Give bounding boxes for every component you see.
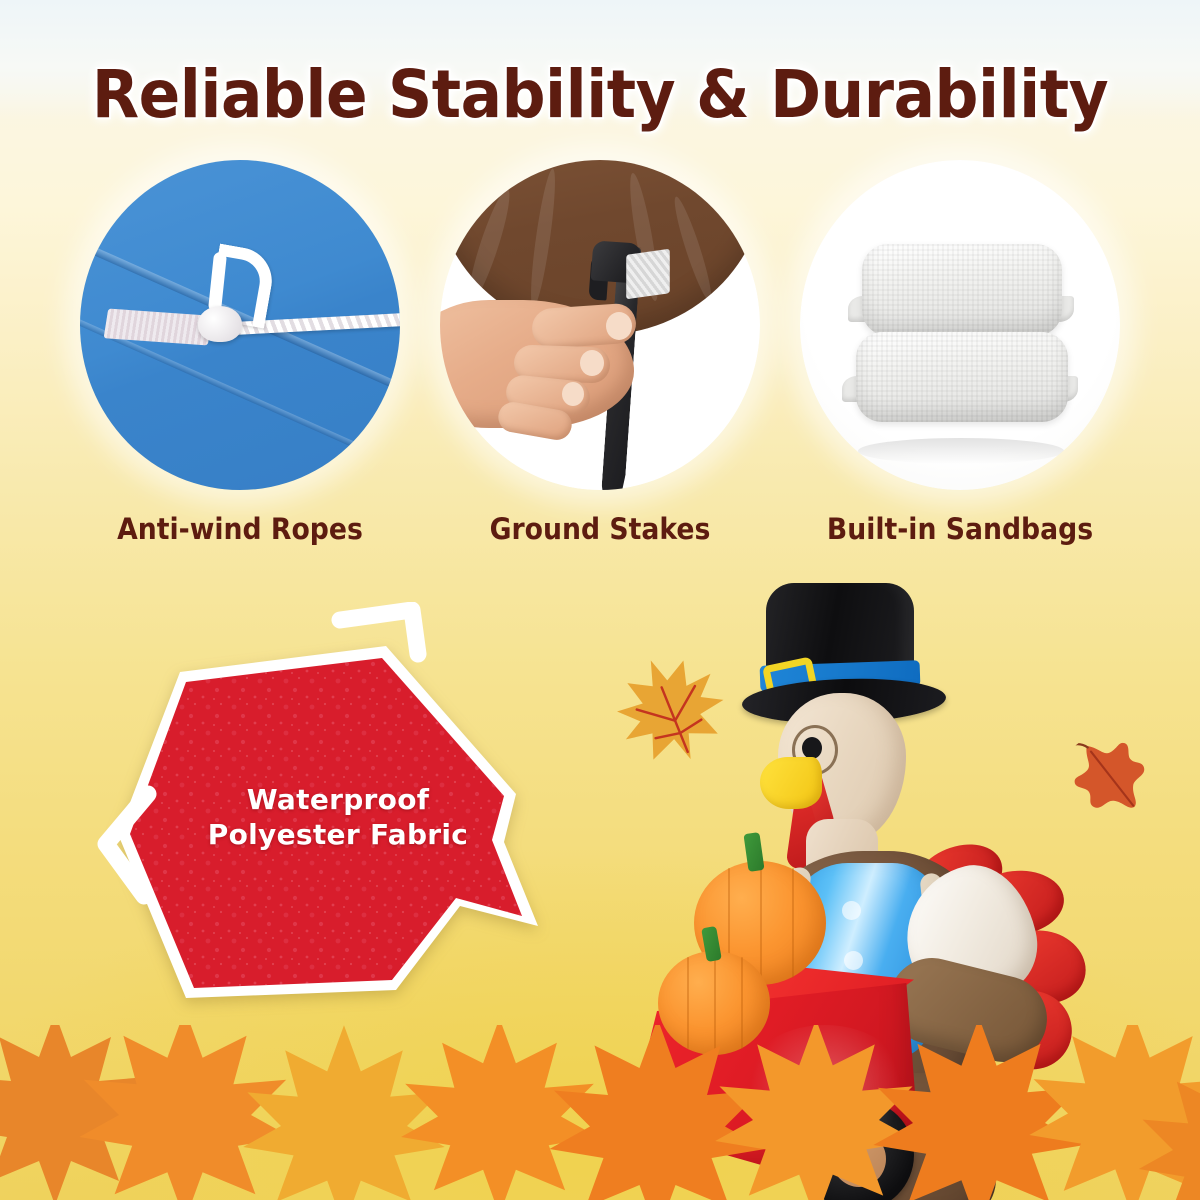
feature-caption: Anti-wind Ropes (93, 512, 387, 546)
callout-line-1: Waterproof (108, 782, 568, 817)
sandbag-bottom (856, 332, 1068, 422)
light-glow (740, 1025, 910, 1155)
feature-anti-wind-ropes: Anti-wind Ropes (80, 160, 400, 546)
feature-image-ground-stakes (440, 160, 760, 490)
reflection (858, 438, 1064, 464)
product-inflatable-turkey (620, 575, 1090, 1200)
fingernail (580, 350, 604, 376)
feature-image-anti-wind-ropes (80, 160, 400, 490)
page-title: Reliable Stability & Durability (42, 56, 1158, 133)
promo-banner: Reliable Stability & Durability Anti-win… (0, 0, 1200, 1200)
maple-leaf-icon (1130, 1055, 1200, 1200)
vest-button (844, 951, 863, 970)
feature-built-in-sandbags: Built-in Sandbags (800, 160, 1120, 546)
maple-leaf-icon (392, 1025, 607, 1200)
maple-leaf-icon (0, 1025, 160, 1200)
fingernail (562, 382, 584, 406)
callout-line-2: Polyester Fabric (108, 817, 568, 852)
sandbag-top (862, 244, 1062, 336)
feature-caption: Ground Stakes (453, 512, 747, 546)
feature-caption: Built-in Sandbags (813, 512, 1107, 546)
maple-leaf-icon (70, 1025, 300, 1200)
corner-bracket-icon (330, 602, 440, 664)
callout-text: Waterproof Polyester Fabric (108, 782, 568, 853)
feature-image-built-in-sandbags (800, 160, 1120, 490)
turkey-beak (760, 757, 822, 809)
stake-strap (626, 249, 670, 300)
maple-leaf-icon (234, 1025, 454, 1200)
fingernail (606, 312, 632, 340)
rope-knot (198, 306, 242, 342)
pumpkin-small (658, 951, 770, 1055)
feature-ground-stakes: Ground Stakes (440, 160, 760, 546)
waterproof-callout: Waterproof Polyester Fabric (108, 606, 568, 1026)
vest-button (842, 901, 861, 920)
